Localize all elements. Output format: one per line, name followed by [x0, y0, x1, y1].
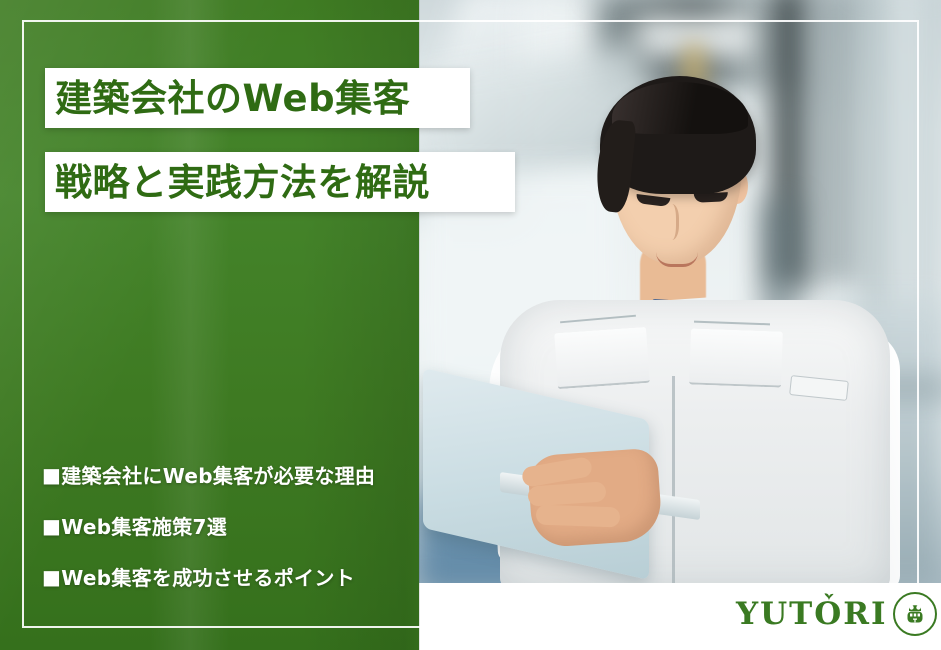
title-line-1-text: 建築会社のWeb集客 [55, 80, 410, 117]
bullet-item: ■ Web集客を成功させるポイント [42, 562, 422, 591]
logo-letter-o-glyph: O [814, 596, 843, 632]
bullet-marker-icon: ■ [42, 565, 61, 589]
jacket-placket [672, 376, 675, 583]
bullet-marker-icon: ■ [42, 463, 61, 487]
jacket-chest-pocket [689, 328, 783, 387]
title-line-1-box: 建築会社のWeb集客 [45, 68, 470, 128]
nose [662, 204, 679, 240]
sprout-leaf-icon [823, 592, 834, 601]
logo-text-part1: YUT [736, 599, 814, 630]
bullet-item-label: 建築会社にWeb集客が必要な理由 [61, 460, 375, 489]
title-line-2-box: 戦略と実践方法を解説 [45, 152, 515, 212]
bullet-item-label: Web集客を成功させるポイント [61, 562, 355, 591]
bullet-marker-icon: ■ [42, 514, 61, 538]
title-line-2-text: 戦略と実践方法を解説 [55, 164, 430, 201]
bullet-item: ■ 建築会社にWeb集客が必要な理由 [42, 460, 422, 489]
finger [536, 505, 621, 528]
bullet-list: ■ 建築会社にWeb集客が必要な理由 ■ Web集客施策7選 ■ Web集客を成… [42, 460, 422, 591]
logo-letter-o: O [814, 599, 843, 630]
bullet-item: ■ Web集客施策7選 [42, 511, 422, 540]
bullet-item-label: Web集客施策7選 [61, 511, 227, 540]
yutori-logo-text: YUT O RI [736, 599, 888, 630]
logo-text-part2: RI [843, 599, 887, 630]
yutori-emblem-icon [893, 592, 937, 636]
yutori-emblem-glyph [901, 600, 929, 628]
jacket-chest-pocket [554, 327, 650, 389]
yutori-logo[interactable]: YUT O RI [736, 592, 937, 636]
web-banner: 建築会社のWeb集客 戦略と実践方法を解説 ■ 建築会社にWeb集客が必要な理由… [0, 0, 941, 650]
